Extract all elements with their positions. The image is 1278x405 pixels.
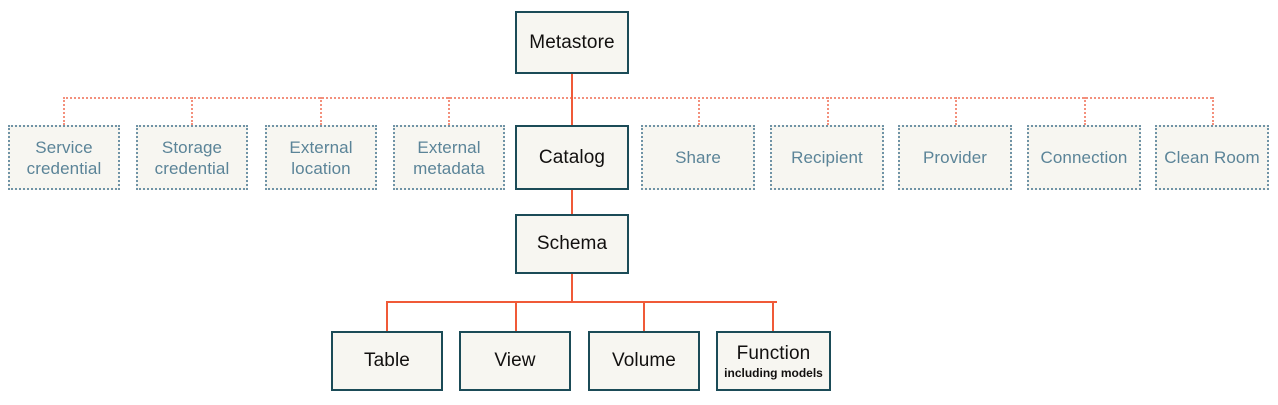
connector-drop-view	[515, 301, 517, 331]
node-service-credential-label: Service credential	[10, 137, 118, 179]
connector-drop-share	[698, 97, 700, 125]
connector-drop-function	[772, 301, 774, 331]
connector-schema-down	[571, 274, 573, 301]
connector-drop-service-credential	[63, 97, 65, 125]
node-recipient-label: Recipient	[791, 147, 863, 168]
connector-drop-external-location	[320, 97, 322, 125]
node-catalog-label: Catalog	[539, 147, 605, 169]
connector-drop-table	[386, 301, 388, 331]
node-provider[interactable]: Provider	[898, 125, 1012, 190]
node-function[interactable]: Function including models	[716, 331, 831, 391]
connector-metastore-down	[571, 74, 573, 97]
node-external-location-label: External location	[267, 137, 375, 179]
node-share[interactable]: Share	[641, 125, 755, 190]
node-external-metadata-label: External metadata	[395, 137, 503, 179]
node-metastore-label: Metastore	[529, 32, 614, 54]
node-volume[interactable]: Volume	[588, 331, 700, 391]
connector-drop-external-metadata	[448, 97, 450, 125]
node-table-label: Table	[364, 350, 410, 372]
connector-drop-clean-room	[1212, 97, 1214, 125]
node-storage-credential[interactable]: Storage credential	[136, 125, 248, 190]
node-clean-room[interactable]: Clean Room	[1155, 125, 1269, 190]
node-table[interactable]: Table	[331, 331, 443, 391]
node-connection-label: Connection	[1040, 147, 1127, 168]
node-external-location[interactable]: External location	[265, 125, 377, 190]
node-clean-room-label: Clean Room	[1164, 147, 1260, 168]
connector-catalog-to-schema	[571, 190, 573, 214]
node-provider-label: Provider	[923, 147, 987, 168]
node-function-sublabel: including models	[724, 366, 823, 380]
unity-catalog-hierarchy-diagram: Metastore Service credential Storage cre…	[0, 0, 1278, 405]
connector-drop-catalog	[571, 97, 573, 125]
node-metastore[interactable]: Metastore	[515, 11, 629, 74]
node-storage-credential-label: Storage credential	[138, 137, 246, 179]
node-schema[interactable]: Schema	[515, 214, 629, 274]
connector-metastore-bus	[63, 97, 1212, 99]
node-recipient[interactable]: Recipient	[770, 125, 884, 190]
node-catalog[interactable]: Catalog	[515, 125, 629, 190]
node-service-credential[interactable]: Service credential	[8, 125, 120, 190]
node-share-label: Share	[675, 147, 721, 168]
connector-drop-connection	[1084, 97, 1086, 125]
node-view-label: View	[494, 350, 535, 372]
node-function-label: Function	[737, 343, 811, 365]
connector-schema-bus	[386, 301, 777, 303]
connector-drop-recipient	[827, 97, 829, 125]
connector-drop-provider	[955, 97, 957, 125]
connector-drop-storage-credential	[191, 97, 193, 125]
node-schema-label: Schema	[537, 233, 607, 255]
connector-drop-volume	[643, 301, 645, 331]
node-view[interactable]: View	[459, 331, 571, 391]
node-volume-label: Volume	[612, 350, 676, 372]
node-external-metadata[interactable]: External metadata	[393, 125, 505, 190]
node-connection[interactable]: Connection	[1027, 125, 1141, 190]
